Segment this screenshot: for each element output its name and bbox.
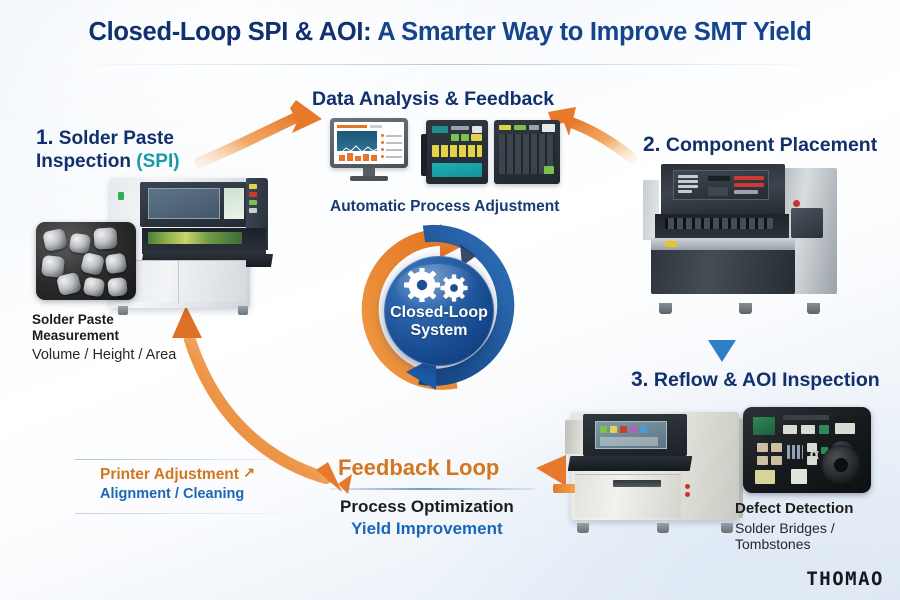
panel-indicator <box>734 183 764 187</box>
pcb-marking: α <box>810 446 819 463</box>
panel-indicator <box>678 180 698 183</box>
machine-indicator <box>685 492 690 497</box>
defect-line1: Defect Detection <box>735 500 853 518</box>
page-title: Closed-Loop SPI & AOI: A Smarter Way to … <box>0 18 900 47</box>
infographic-canvas: Closed-Loop SPI & AOI: A Smarter Way to … <box>0 0 900 600</box>
pcb-component <box>791 469 807 484</box>
control-terminal-1 <box>426 120 488 184</box>
brand-watermark: THOMAO <box>806 568 884 590</box>
terminal-readout <box>514 125 526 130</box>
machine-keyboard <box>568 456 693 471</box>
control-terminal-2 <box>494 120 560 184</box>
step-1-heading: 1. Solder Paste Inspection (SPI) <box>36 126 180 173</box>
aoi-inspection-machine <box>561 398 756 533</box>
dashboard-list-row <box>386 149 402 151</box>
paste-deposit <box>80 252 105 276</box>
pcb-component <box>753 417 775 435</box>
machine-pcb <box>148 232 242 244</box>
terminal-readout <box>529 125 539 130</box>
page-title-primary: Closed-Loop SPI & AOI: <box>89 18 372 46</box>
pcb-trace <box>783 415 829 420</box>
dashboard-chart <box>337 131 377 151</box>
terminal-display <box>432 126 448 133</box>
pcb-component <box>771 456 782 465</box>
dashboard-bullet <box>381 141 384 144</box>
terminal-main-screen <box>432 163 482 177</box>
arrow-placement-to-reflow <box>708 318 736 362</box>
feedback-line2: Yield Improvement <box>340 519 514 539</box>
terminal-keypad <box>432 145 482 157</box>
machine-nozzle-head <box>665 218 773 229</box>
machine-screen <box>595 421 667 449</box>
machine-button <box>249 192 257 197</box>
printer-adjustment-divider-top <box>75 459 283 460</box>
step-1-abbrev: (SPI) <box>136 151 179 172</box>
monitor-screen <box>334 122 404 164</box>
closed-loop-core-label: Closed-Loop System <box>384 304 494 340</box>
screen-swatch <box>640 426 647 433</box>
core-label-line2: System <box>384 322 494 340</box>
machine-foot <box>657 523 669 533</box>
solder-paste-deposits-photo <box>36 222 136 300</box>
terminal-display <box>542 124 555 132</box>
dashboard-bar <box>355 156 361 161</box>
monitor-bezel <box>330 118 408 168</box>
feedback-line1: Process Optimization <box>340 497 514 517</box>
step-2-heading: 2. Component Placement <box>643 133 877 158</box>
pcb-connector <box>787 445 803 459</box>
machine-foot <box>659 303 672 314</box>
printer-adjustment-label: Printer Adjustment <box>100 466 239 483</box>
panel-indicator <box>734 176 764 180</box>
printer-adjustment-detail: Alignment / Cleaning <box>100 486 255 503</box>
pcb-component <box>755 470 775 484</box>
machine-foot <box>238 306 248 315</box>
machine-screen <box>148 188 220 219</box>
dashboard-bar <box>339 155 345 161</box>
machine-status-led <box>118 192 124 200</box>
pcb-component <box>757 456 768 465</box>
pcb-component <box>835 423 855 434</box>
monitor-dashboard <box>330 118 408 184</box>
dashboard-bullet <box>381 148 384 151</box>
dashboard-titlebar-secondary <box>370 125 382 128</box>
paste-deposit <box>83 276 106 297</box>
measurement-line3: Volume / Height / Area <box>32 347 176 364</box>
step-3-heading: 3. Reflow & AOI Inspection <box>631 368 880 393</box>
dashboard-list-row <box>386 135 402 137</box>
data-analysis-devices <box>330 118 560 196</box>
screen-swatch <box>610 426 617 433</box>
dashboard-bar <box>363 154 369 161</box>
feedback-loop-divider <box>330 488 535 490</box>
step-1-number: 1. <box>36 126 54 149</box>
machine-foot <box>577 523 589 533</box>
machine-foot <box>721 523 733 533</box>
pcb-component <box>757 443 768 452</box>
measurement-line1: Solder Paste <box>32 312 176 328</box>
machine-foot <box>807 303 820 314</box>
monitor-neck <box>363 168 375 176</box>
dashboard-bullet <box>381 155 384 158</box>
step-2-label: Component Placement <box>661 134 878 156</box>
defect-line2: Solder Bridges / <box>735 520 853 537</box>
step-3-number: 3. <box>631 368 649 391</box>
component-placement-machine <box>643 162 848 314</box>
double-gear-icon <box>402 268 476 302</box>
page-title-secondary: A Smarter Way to Improve SMT Yield <box>371 18 811 46</box>
terminal-side-panel <box>421 134 427 176</box>
step-1-label-line2: Inspection <box>36 151 136 172</box>
pcb-capacitor <box>821 445 861 485</box>
paste-deposit <box>69 233 91 255</box>
machine-board-slot <box>613 480 661 487</box>
step-2-number: 2. <box>643 133 661 156</box>
arrow-placement-to-data <box>548 107 632 158</box>
automatic-process-adjustment-label: Automatic Process Adjustment <box>330 198 559 216</box>
terminal-key <box>451 134 459 141</box>
terminal-readout <box>472 126 482 133</box>
paste-deposit <box>42 228 68 252</box>
defect-pcb-photo: α <box>743 407 871 493</box>
pcb-component <box>801 425 815 434</box>
monitor-stand <box>350 176 388 181</box>
panel-indicator <box>678 190 692 193</box>
step-1-label: Solder Paste <box>54 128 174 149</box>
machine-control-panel <box>673 170 769 200</box>
panel-indicator <box>734 190 758 194</box>
pcb-component <box>783 425 797 434</box>
panel-indicator <box>678 175 698 178</box>
pcb-component <box>771 443 782 452</box>
dashboard-bar <box>347 153 353 161</box>
panel-display <box>708 176 730 181</box>
paste-deposit <box>107 277 128 297</box>
paste-deposit <box>93 227 117 250</box>
dashboard-bullet <box>381 134 384 137</box>
measurement-line2: Measurement <box>32 328 176 344</box>
feedback-loop-title: Feedback Loop <box>338 455 499 481</box>
screen-swatch <box>620 426 627 433</box>
printer-adjustment-title: Printer Adjustment ↗ <box>100 466 255 484</box>
machine-left-panel <box>565 420 583 454</box>
machine-indicator <box>685 484 690 489</box>
terminal-key <box>461 134 469 141</box>
dashboard-titlebar <box>337 125 367 128</box>
arrow-spi-to-data <box>200 100 322 162</box>
paste-deposit <box>105 253 128 275</box>
machine-side-display <box>224 188 244 219</box>
defect-detection-block: Defect Detection Solder Bridges / Tombst… <box>735 500 853 553</box>
closed-loop-hub: Closed-Loop System <box>344 222 534 392</box>
up-right-arrow-icon: ↗ <box>243 464 255 481</box>
solder-paste-measurement-block: Solder Paste Measurement Volume / Height… <box>32 312 176 364</box>
machine-conveyor-inlet <box>553 484 575 493</box>
machine-button <box>249 184 257 189</box>
terminal-enter-key <box>544 166 554 174</box>
terminal-key <box>471 134 482 141</box>
data-analysis-heading: Data Analysis & Feedback <box>312 88 554 111</box>
defect-line3: Tombstones <box>735 536 853 553</box>
core-label-line1: Closed-Loop <box>384 304 494 322</box>
screen-swatch <box>630 426 637 433</box>
panel-indicator <box>678 185 698 188</box>
machine-emergency-stop <box>793 200 800 207</box>
terminal-readout <box>451 126 469 130</box>
feedback-loop-subtext: Process Optimization Yield Improvement <box>340 497 514 539</box>
machine-window <box>791 208 823 238</box>
printer-adjustment-block: Printer Adjustment ↗ Alignment / Cleanin… <box>100 466 255 503</box>
dashboard-list-row <box>386 156 402 158</box>
panel-display <box>708 187 728 196</box>
screen-strip <box>600 437 658 446</box>
dashboard-list-row <box>386 142 402 144</box>
machine-button <box>249 208 257 213</box>
screen-swatch <box>600 426 607 433</box>
printer-adjustment-divider-bottom <box>75 513 283 514</box>
title-divider <box>70 64 830 65</box>
dashboard-bar <box>371 155 377 161</box>
pcb-component <box>819 425 829 434</box>
machine-warning-tag <box>665 241 677 247</box>
paste-deposit <box>56 272 82 297</box>
machine-base-cabinet <box>651 250 795 294</box>
terminal-readout <box>499 125 511 130</box>
machine-button <box>249 200 257 205</box>
machine-foot <box>739 303 752 314</box>
step-3-label: Reflow & AOI Inspection <box>649 369 880 391</box>
